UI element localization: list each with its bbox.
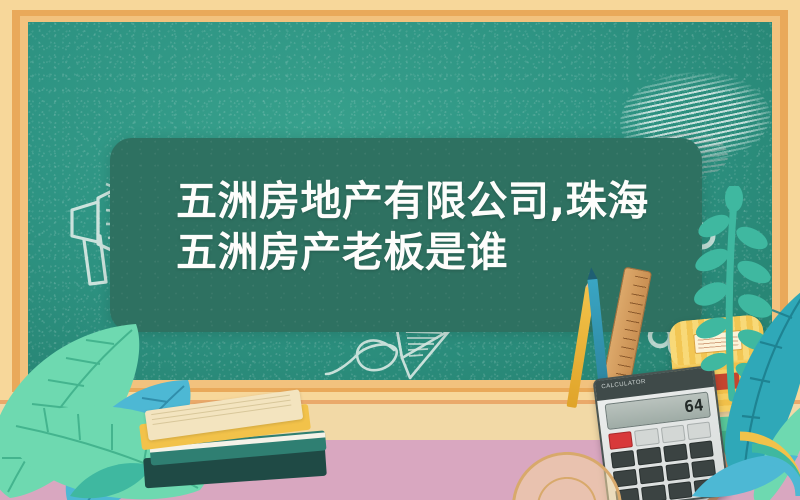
calculator-key-9[interactable] bbox=[663, 444, 688, 463]
calculator-key-2[interactable] bbox=[641, 484, 666, 500]
pencil-blue-tip bbox=[586, 267, 597, 280]
calculator-key-divide[interactable] bbox=[686, 421, 711, 440]
rainbow-arc bbox=[724, 392, 800, 500]
calculator-brand-label: CALCULATOR bbox=[601, 379, 646, 390]
calculator-key-percent[interactable] bbox=[660, 425, 685, 444]
protractor-inner-arc bbox=[535, 475, 597, 500]
banner-image: 五洲房地产有限公司,珠海 五洲房产老板是谁 bbox=[0, 0, 800, 500]
calculator-key-8[interactable] bbox=[637, 447, 662, 466]
calculator-key-6[interactable] bbox=[665, 462, 690, 481]
page-title: 五洲房地产有限公司,珠海 五洲房产老板是谁 bbox=[176, 176, 716, 278]
calculator-key-ac[interactable] bbox=[608, 431, 633, 450]
calculator-key-3[interactable] bbox=[667, 481, 692, 500]
headline-line-1: 五洲房地产有限公司,珠海 bbox=[176, 176, 716, 227]
calculator-key-c[interactable] bbox=[634, 428, 659, 447]
calculator-key-7[interactable] bbox=[611, 450, 636, 469]
calculator-key-5[interactable] bbox=[639, 466, 664, 485]
